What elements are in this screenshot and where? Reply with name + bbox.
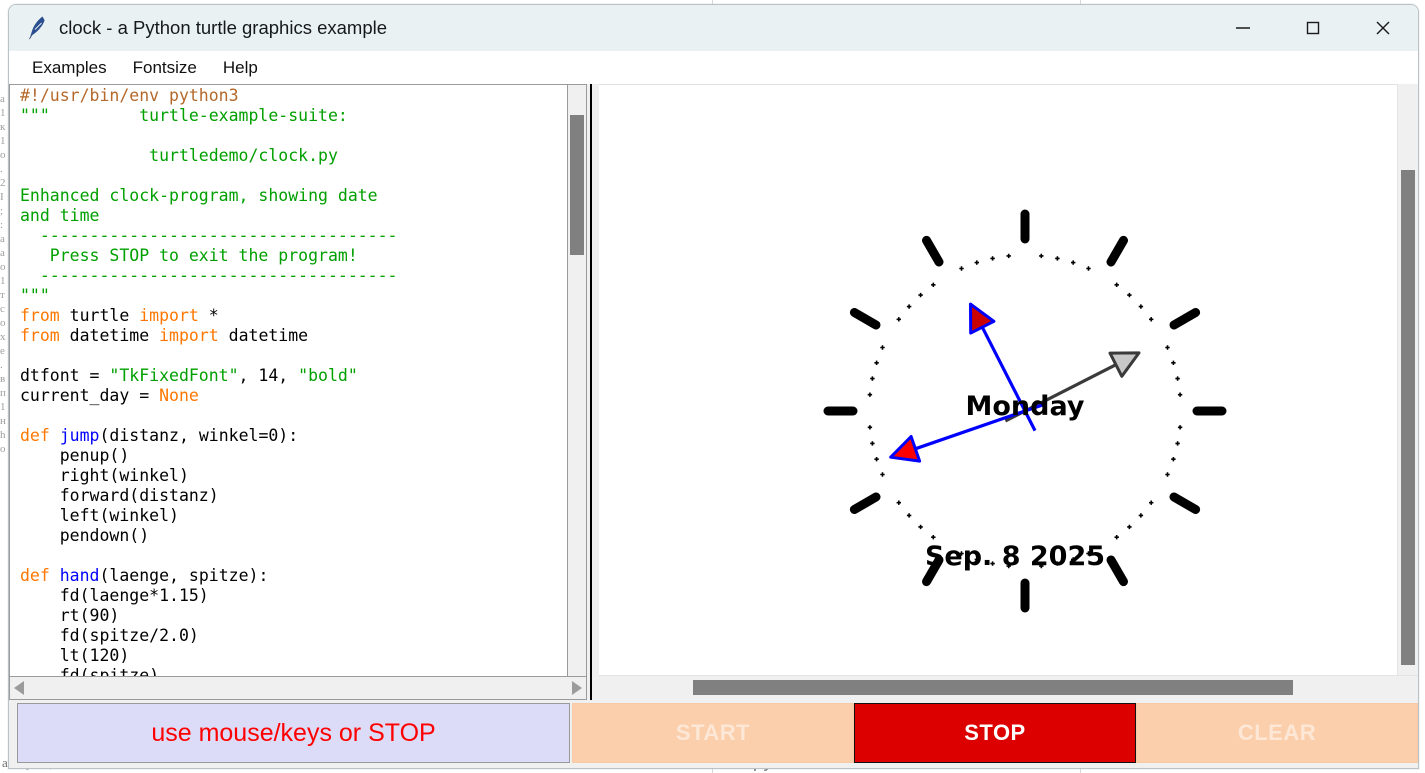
minute-dot xyxy=(918,293,922,297)
minute-dot xyxy=(1139,513,1143,517)
minute-dot xyxy=(897,501,901,505)
menu-bar: Examples Fontsize Help xyxy=(9,51,1418,85)
editor-vertical-scrollbar[interactable] xyxy=(567,84,587,677)
minute-dot xyxy=(1007,254,1011,258)
clock-drawing: Monday Sep. 8 2025 xyxy=(599,85,1397,675)
demo-button-group: START STOP CLEAR xyxy=(572,700,1418,768)
status-bar: use mouse/keys or STOP xyxy=(17,703,570,763)
hour-tick xyxy=(1111,560,1124,582)
minute-dot xyxy=(918,525,922,529)
canvas-vertical-scroll-thumb[interactable] xyxy=(1401,170,1415,665)
stop-button[interactable]: STOP xyxy=(854,703,1136,763)
minute-dot xyxy=(874,457,878,461)
pane-divider-handle[interactable] xyxy=(587,84,599,700)
minute-dot xyxy=(1178,393,1182,397)
minute-dot xyxy=(931,283,935,287)
window-controls xyxy=(1208,5,1418,51)
minute-dot xyxy=(975,260,979,264)
minute-dot xyxy=(907,513,911,517)
python-feather-icon xyxy=(23,15,53,41)
editor-vertical-scroll-thumb[interactable] xyxy=(570,115,584,255)
minute-dot xyxy=(1165,345,1169,349)
minute-dot xyxy=(868,425,872,429)
minute-dot xyxy=(880,472,884,476)
minute-dot xyxy=(1086,266,1090,270)
title-bar: clock - a Python turtle graphics example xyxy=(9,5,1418,51)
clear-button[interactable]: CLEAR xyxy=(1136,703,1418,763)
minute-dot xyxy=(1178,425,1182,429)
window-title: clock - a Python turtle graphics example xyxy=(59,17,387,39)
minute-dot xyxy=(868,393,872,397)
hour-tick xyxy=(1174,497,1196,510)
minute-dot xyxy=(1055,256,1059,260)
hour-tick xyxy=(1111,240,1124,262)
clock-application-window: clock - a Python turtle graphics example… xyxy=(8,4,1419,769)
menu-item-help[interactable]: Help xyxy=(212,55,269,81)
clock-hands-group xyxy=(891,304,1139,461)
scroll-right-arrow-icon[interactable] xyxy=(572,681,582,695)
minute-dot xyxy=(1171,361,1175,365)
minute-dot xyxy=(990,256,994,260)
minute-dot xyxy=(874,361,878,365)
code-editor-pane: #!/usr/bin/env python3 """ turtle-exampl… xyxy=(9,84,587,700)
minute-dot xyxy=(1071,260,1075,264)
minute-dot xyxy=(931,535,935,539)
minute-dot xyxy=(1165,472,1169,476)
code-text-area[interactable]: #!/usr/bin/env python3 """ turtle-exampl… xyxy=(9,84,567,677)
status-message: use mouse/keys or STOP xyxy=(151,719,435,748)
bottom-bar: use mouse/keys or STOP START STOP CLEAR xyxy=(9,700,1418,768)
clock-date-label: Sep. 8 2025 xyxy=(925,541,1105,572)
minute-dot xyxy=(1039,254,1043,258)
canvas-horizontal-scrollbar[interactable] xyxy=(599,675,1418,700)
minute-dot xyxy=(1149,317,1153,321)
clock-weekday-label: Monday xyxy=(966,391,1085,422)
minute-dot xyxy=(870,376,874,380)
hour-tick xyxy=(927,240,940,262)
minute-dot xyxy=(1171,457,1175,461)
hour-hand-head xyxy=(1110,353,1139,376)
second-hand-head xyxy=(971,304,994,333)
minute-dot xyxy=(1115,535,1119,539)
start-button[interactable]: START xyxy=(572,703,854,763)
minute-dot xyxy=(1127,293,1131,297)
hour-tick xyxy=(854,497,876,510)
minute-dot xyxy=(1127,525,1131,529)
menu-item-examples[interactable]: Examples xyxy=(21,55,118,81)
minute-dot xyxy=(1139,304,1143,308)
minute-dot xyxy=(959,266,963,270)
source-code: #!/usr/bin/env python3 """ turtle-exampl… xyxy=(10,85,567,677)
minimize-button[interactable] xyxy=(1208,5,1278,51)
minute-dot xyxy=(1149,501,1153,505)
minute-dot xyxy=(1175,376,1179,380)
minute-dot xyxy=(1175,441,1179,445)
main-split-area: #!/usr/bin/env python3 """ turtle-exampl… xyxy=(9,84,1418,700)
minute-dot xyxy=(907,304,911,308)
turtle-canvas-pane: Monday Sep. 8 2025 xyxy=(599,84,1418,700)
menu-item-fontsize[interactable]: Fontsize xyxy=(122,55,208,81)
canvas-horizontal-scroll-thumb[interactable] xyxy=(693,680,1293,695)
minute-dot xyxy=(1115,283,1119,287)
canvas-vertical-scrollbar[interactable] xyxy=(1397,84,1418,675)
hour-tick xyxy=(1174,313,1196,326)
hour-tick xyxy=(854,313,876,326)
minute-dot xyxy=(880,345,884,349)
turtle-canvas[interactable]: Monday Sep. 8 2025 xyxy=(599,84,1397,675)
minute-dot xyxy=(870,441,874,445)
close-button[interactable] xyxy=(1348,5,1418,51)
editor-horizontal-scrollbar[interactable] xyxy=(9,677,587,700)
scroll-left-arrow-icon[interactable] xyxy=(14,681,24,695)
minute-dot xyxy=(897,317,901,321)
maximize-button[interactable] xyxy=(1278,5,1348,51)
minute-hand-head xyxy=(891,437,920,462)
